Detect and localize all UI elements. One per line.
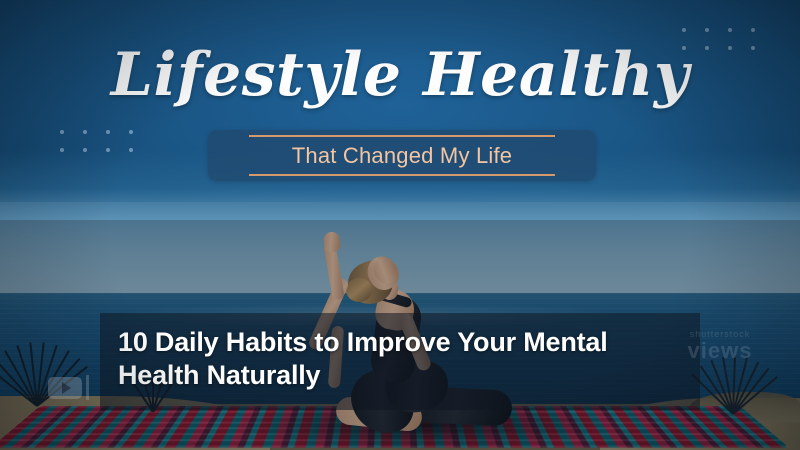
dot — [728, 28, 732, 32]
dot — [705, 28, 709, 32]
subtitle-box: That Changed My Life — [208, 130, 596, 181]
play-button-icon — [48, 377, 82, 399]
dot — [682, 28, 686, 32]
dot-grid-left — [60, 130, 133, 152]
headline-text: 10 Daily Habits to Improve Your Mental H… — [118, 326, 678, 392]
dot — [106, 148, 110, 152]
dot — [60, 130, 64, 134]
dot — [751, 28, 755, 32]
figure-hair-bun — [346, 278, 372, 302]
dot — [60, 148, 64, 152]
dot — [83, 130, 87, 134]
watermark-bar — [86, 375, 89, 400]
dot — [106, 130, 110, 134]
dot — [129, 148, 133, 152]
subtitle-rule-top — [249, 135, 555, 137]
social-media-banner: Lifestyle Healthy That Changed My Life 1… — [0, 0, 800, 450]
banner-title: Lifestyle Healthy — [0, 44, 800, 106]
subtitle-rule-bottom — [249, 174, 555, 176]
subtitle-text: That Changed My Life — [292, 143, 512, 169]
dot — [83, 148, 87, 152]
figure-hand — [323, 231, 341, 253]
play-triangle-icon — [62, 382, 71, 394]
dot — [129, 130, 133, 134]
